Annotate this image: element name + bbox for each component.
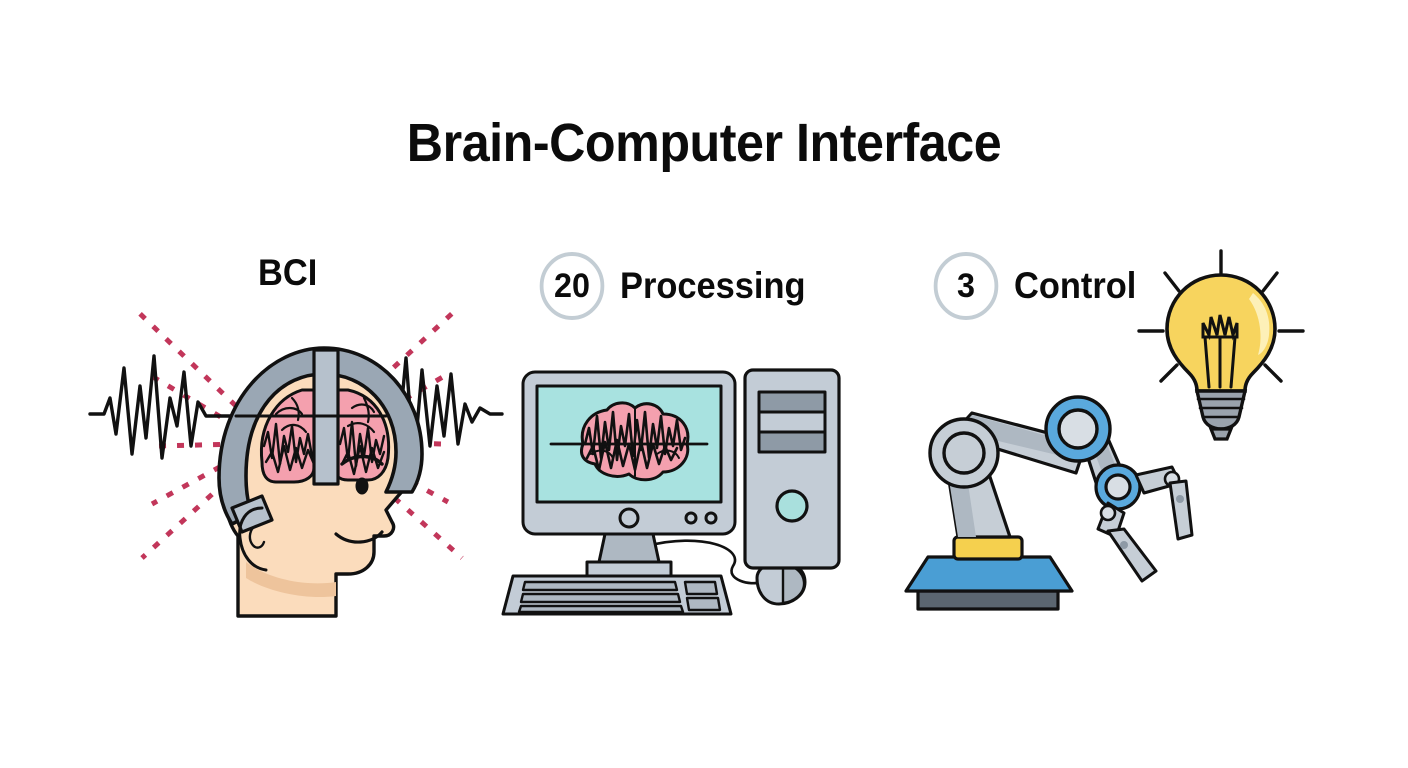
tower-bay-3 [759,432,825,452]
page-title: Brain-Computer Interface [49,112,1358,174]
yellow-collar [954,537,1022,559]
light-bulb-icon [1125,245,1315,435]
monitor-base [587,562,671,576]
stage-label-processing-text: Processing [620,265,806,307]
elbow-joint [1046,397,1110,461]
tower-bay-2 [759,412,825,432]
base-plinth [918,591,1058,609]
wrist-joint [1096,465,1140,509]
desktop-computer-icon [495,350,865,620]
shoulder-joint [930,419,998,487]
base-platform [906,557,1072,591]
monitor-power-circle [620,509,638,527]
tower-bay-1 [759,392,825,412]
keyboard [503,576,731,614]
head-eeg-cap-icon [86,286,506,636]
power-button [777,491,807,521]
stage-label-control-text: Control [1014,265,1136,307]
badge-20: 20 [540,252,605,320]
infographic-canvas: Brain-Computer Interface BCI 20 Processi… [0,0,1408,768]
monitor-neck [599,534,659,562]
monitor-led-1 [686,513,696,523]
gripper-finger-upper [1136,467,1192,539]
tower [745,370,839,568]
screw-base [1197,391,1245,439]
stage-label-processing: 20 Processing [538,252,819,320]
badge-3: 3 [934,252,999,320]
eye [356,478,369,495]
gripper-finger-lower [1098,503,1156,581]
monitor-led-2 [706,513,716,523]
stage-label-control: 3 Control [932,252,1146,320]
